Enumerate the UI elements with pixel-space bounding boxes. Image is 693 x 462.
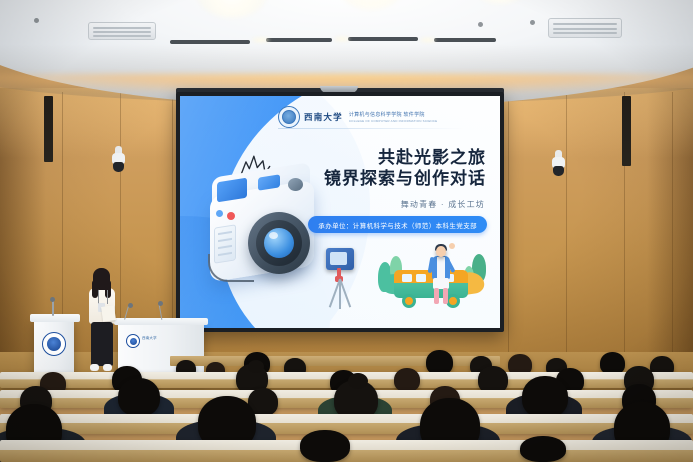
podium-emblem-main [42, 332, 66, 356]
podium-mic-stem [52, 300, 54, 316]
table-mic-head [128, 303, 133, 308]
ceiling-ac-unit-right [548, 18, 622, 38]
audience-head [394, 368, 420, 392]
ceiling-ac-unit-left [88, 22, 156, 40]
audience-head-front [300, 430, 350, 462]
bench-row-2[interactable] [0, 414, 693, 434]
speaker-presenter [84, 268, 120, 378]
main-podium-top [30, 314, 80, 322]
lecture-hall-photo: 西南大学 计算机与信息科学学院 软件学院 COLLEGE OF COMPUTER… [0, 0, 693, 462]
audience-head [118, 378, 160, 416]
projection-screen[interactable]: 西南大学 计算机与信息科学学院 软件学院 COLLEGE OF COMPUTER… [180, 96, 500, 328]
audience-hair-bun [348, 373, 368, 389]
audience-head-front [520, 436, 566, 462]
audience-hair-bun [248, 360, 264, 373]
audience-head [522, 376, 568, 418]
screen-glare [180, 96, 500, 328]
podium-mic-head [50, 297, 55, 302]
side-podium-label: 西南大学 [142, 336, 157, 341]
table-mic-head-2 [158, 301, 163, 306]
podium-emblem-side [126, 334, 140, 348]
